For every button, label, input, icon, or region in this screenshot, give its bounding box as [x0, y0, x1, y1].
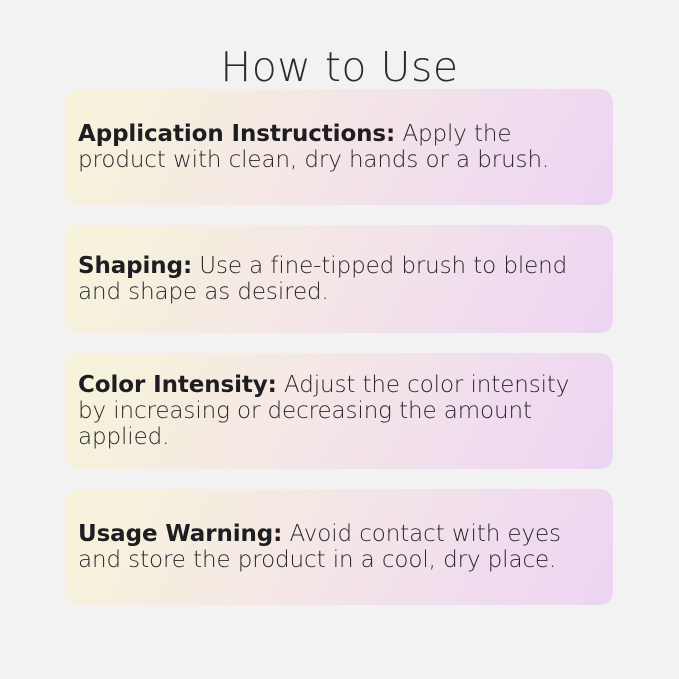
instruction-card-label: Application Instructions: [78, 121, 395, 147]
instruction-card-text: Shaping: Use a fine-tipped brush to blen… [78, 253, 597, 305]
instruction-card-label: Shaping: [78, 253, 192, 279]
instruction-card-text: Application Instructions: Apply the prod… [78, 121, 597, 173]
page-title: How to Use [0, 45, 679, 91]
instruction-card-text: Color Intensity: Adjust the color intens… [78, 372, 597, 450]
instruction-card: Application Instructions: Apply the prod… [66, 89, 613, 205]
instruction-card-text: Usage Warning: Avoid contact with eyes a… [78, 521, 597, 573]
instruction-card-list: Application Instructions: Apply the prod… [66, 89, 613, 605]
instruction-card: Color Intensity: Adjust the color intens… [66, 353, 613, 469]
how-to-use-page: How to Use Application Instructions: App… [0, 0, 679, 679]
instruction-card-label: Color Intensity: [78, 372, 277, 398]
instruction-card-label: Usage Warning: [78, 521, 282, 547]
instruction-card: Shaping: Use a fine-tipped brush to blen… [66, 225, 613, 333]
instruction-card: Usage Warning: Avoid contact with eyes a… [66, 489, 613, 605]
